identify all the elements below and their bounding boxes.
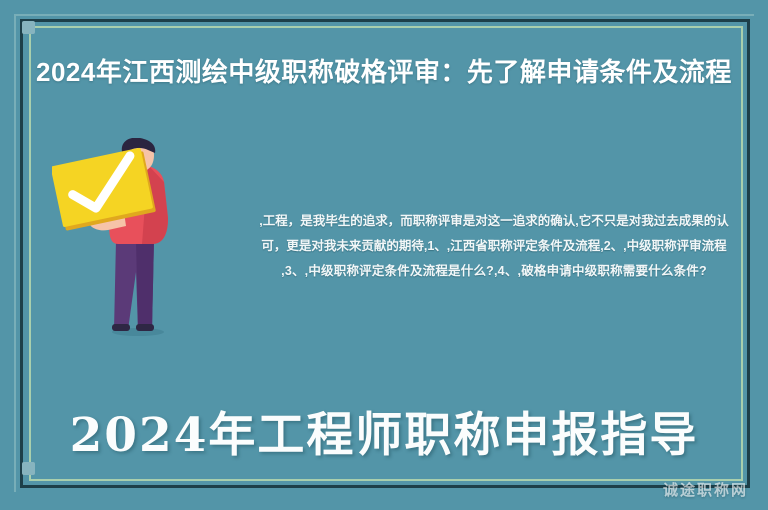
- body-paragraph: ,工程，是我毕生的追求，而职称评审是对这一追求的确认,它不只是对我过去成果的认 …: [238, 209, 750, 284]
- site-watermark: 诚途职称网: [663, 479, 748, 500]
- poster-canvas: 2024年江西测绘中级职称破格评审：先了解申请条件及流程: [0, 0, 768, 510]
- page-title: 2024年江西测绘中级职称破格评审：先了解申请条件及流程: [36, 55, 736, 89]
- body-line-3: ,3、,中级职称评定条件及流程是什么?,4、,破格申请中级职称需要什么条件?: [238, 259, 750, 284]
- body-line-1: ,工程，是我毕生的追求，而职称评审是对这一追求的确认,它不只是对我过去成果的认: [238, 209, 750, 234]
- figure-shoe-right: [136, 324, 154, 331]
- figure-shoe-left: [112, 324, 130, 331]
- figure-pants-shade: [136, 240, 154, 330]
- illustration-person-holding-approved-card: [52, 138, 232, 353]
- corner-accent-top-left: [22, 21, 35, 34]
- body-line-2: 可，更是对我未来贡献的期待,1、,江西省职称评定条件及流程,2、,中级职称评审流…: [238, 234, 750, 259]
- slogan-text: 2024年工程师职称申报指导: [0, 396, 768, 465]
